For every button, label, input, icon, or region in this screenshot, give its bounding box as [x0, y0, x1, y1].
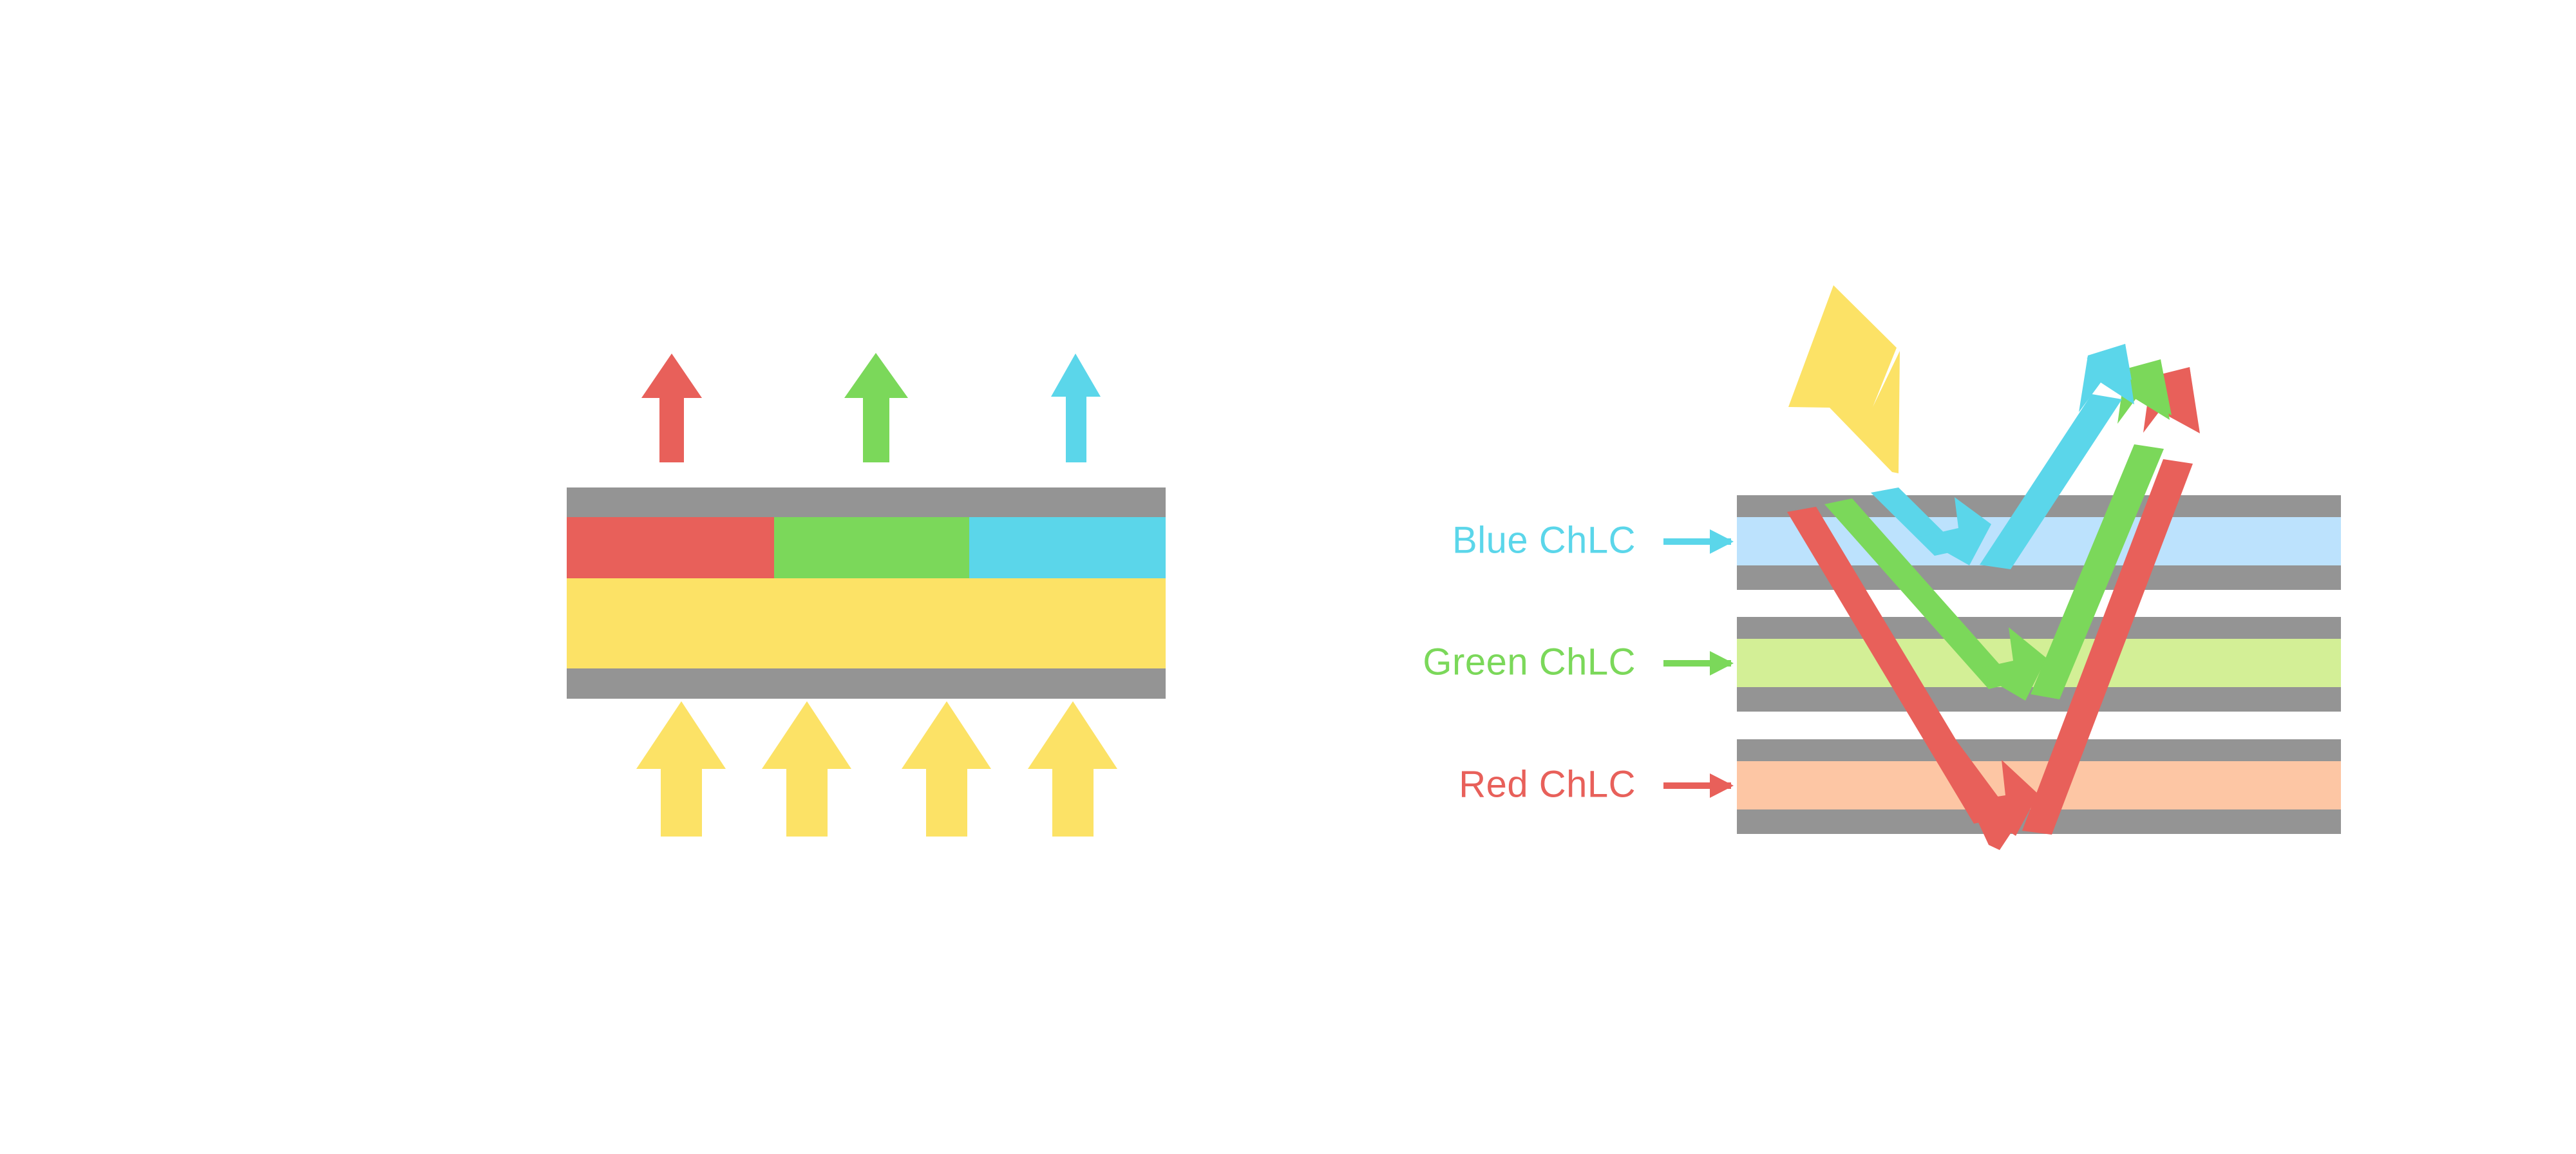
figure-root: Blue ChLC Green ChLC Red ChLC — [0, 0, 2576, 1154]
green-cell-top-electrode — [1737, 617, 2341, 639]
left-top-electrode — [567, 487, 1166, 517]
left-backlight-layer — [567, 578, 1166, 668]
left-red-segment — [567, 517, 774, 578]
left-bottom-electrode — [567, 668, 1166, 699]
red-chlc-label-text: Red ChLC — [1459, 763, 1636, 805]
left-cyan-segment — [969, 517, 1166, 578]
blue-chlc-label-text: Blue ChLC — [1452, 519, 1636, 561]
diagram-canvas: Blue ChLC Green ChLC Red ChLC — [0, 0, 2576, 1154]
green-chlc-label-text: Green ChLC — [1423, 641, 1636, 683]
left-green-segment — [774, 517, 969, 578]
red-cell-top-electrode — [1737, 739, 2341, 761]
